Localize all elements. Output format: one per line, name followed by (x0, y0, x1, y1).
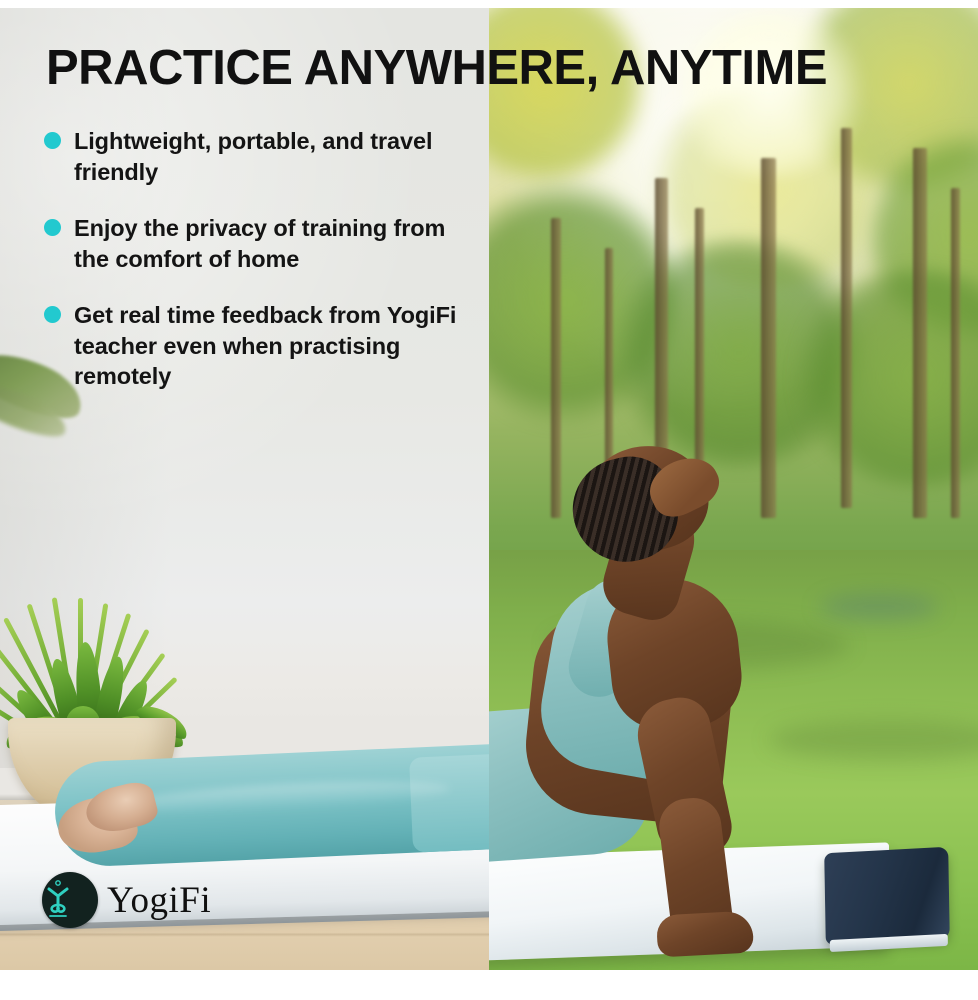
brand-logo: YogiFi (42, 872, 211, 928)
list-item: Enjoy the privacy of training from the c… (44, 213, 474, 274)
bottom-white-margin (0, 970, 978, 1000)
bullet-dot-icon (44, 219, 61, 236)
yogi-meditation-infinity-icon (42, 872, 98, 928)
feature-bullet-list: Lightweight, portable, and travel friend… (44, 126, 474, 418)
list-item-label: Get real time feedback from YogiFi teach… (74, 300, 474, 392)
brand-name: YogiFi (107, 882, 211, 919)
list-item: Lightweight, portable, and travel friend… (44, 126, 474, 187)
bullet-dot-icon (44, 306, 61, 323)
top-white-margin (0, 0, 978, 8)
page-title: PRACTICE ANYWHERE, ANYTIME (46, 44, 966, 93)
person-hand (656, 911, 754, 958)
outdoor-scene-panel (489, 8, 978, 970)
bullet-dot-icon (44, 132, 61, 149)
list-item-label: Lightweight, portable, and travel friend… (74, 126, 474, 187)
list-item-label: Enjoy the privacy of training from the c… (74, 213, 474, 274)
poster-canvas: PRACTICE ANYWHERE, ANYTIME Lightweight, … (0, 8, 978, 970)
product-feature-poster: PRACTICE ANYWHERE, ANYTIME Lightweight, … (0, 0, 978, 1000)
person-yoga-pose (489, 8, 978, 970)
list-item: Get real time feedback from YogiFi teach… (44, 300, 474, 392)
